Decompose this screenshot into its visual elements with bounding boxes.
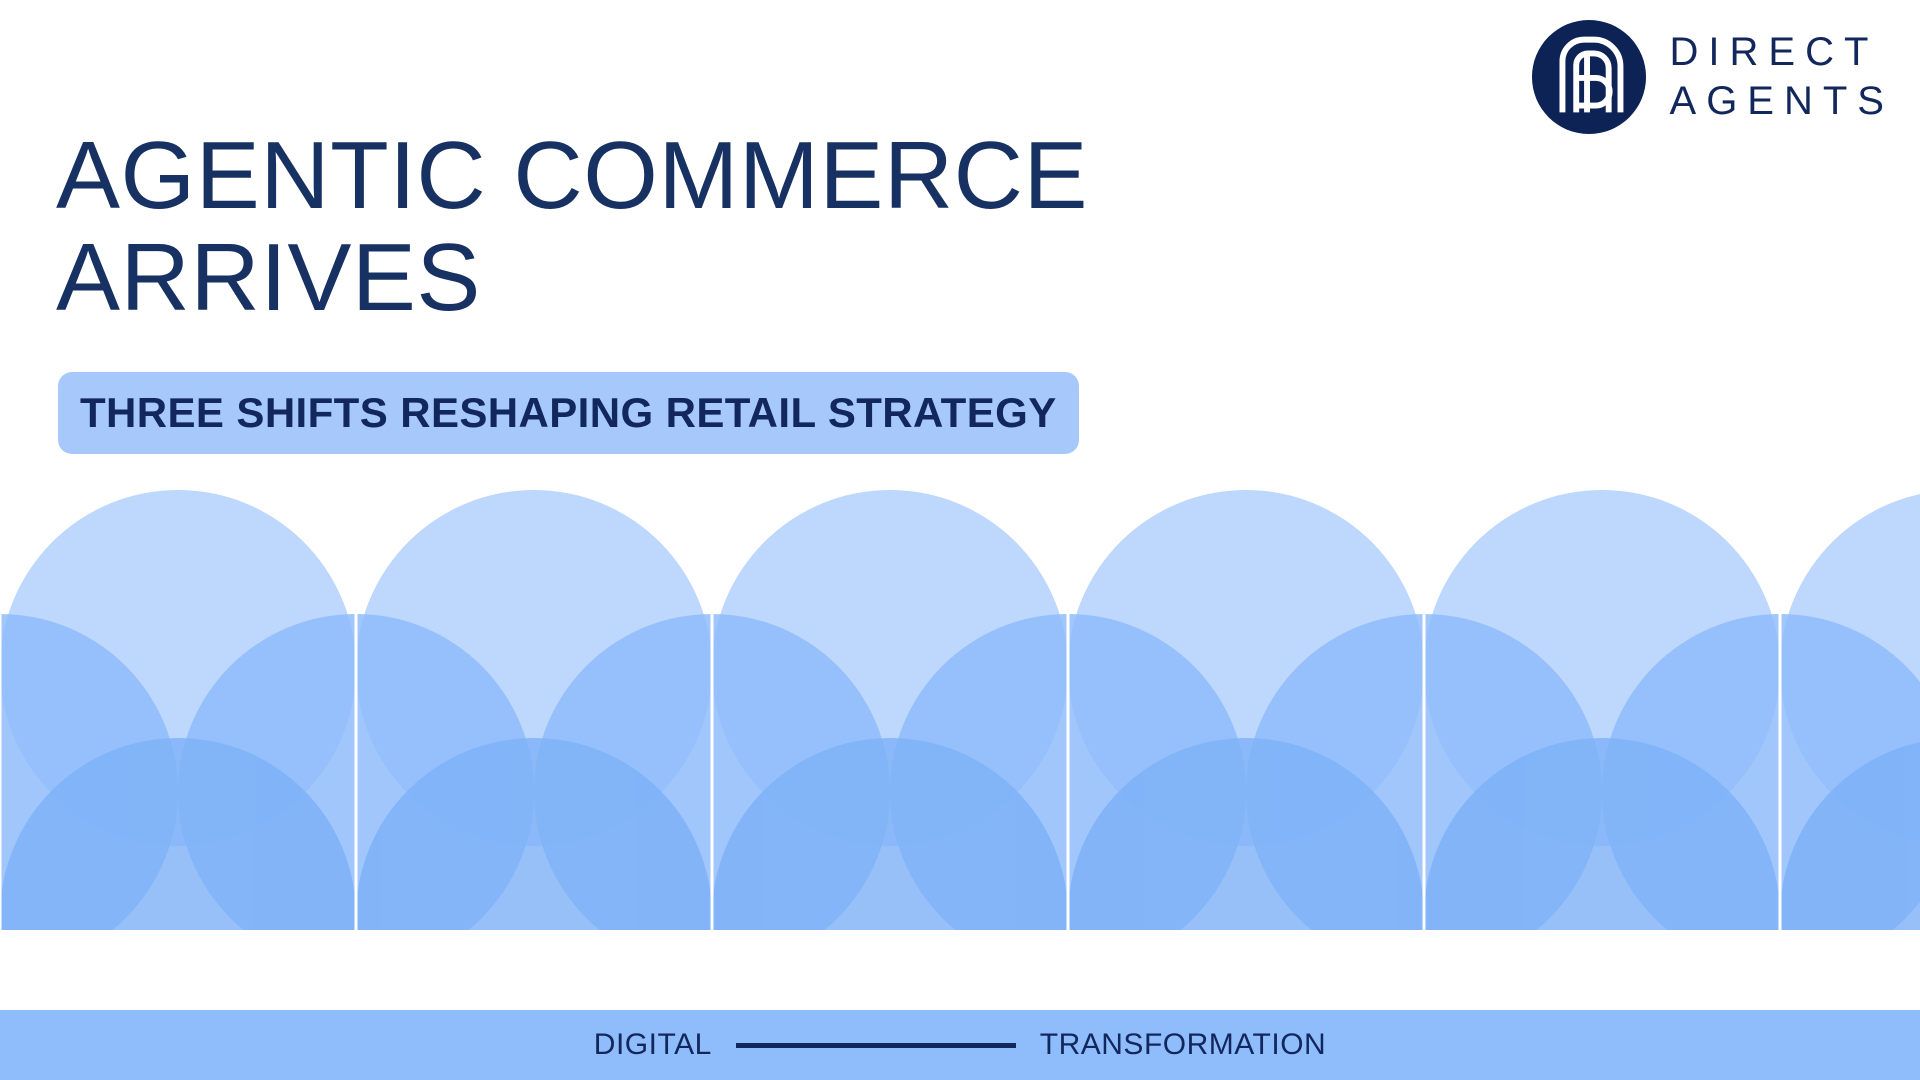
- logo-word-direct: DIRECT: [1670, 31, 1894, 74]
- headline-line-1: AGENTIC COMMERCE: [56, 128, 1456, 224]
- subtitle-text: THREE SHIFTS RESHAPING RETAIL STRATEGY: [80, 389, 1057, 437]
- direct-agents-logo-icon: [1530, 18, 1648, 136]
- decorative-pattern-band: [0, 480, 1920, 930]
- footer-divider-rule: [736, 1043, 1016, 1048]
- logo-word-agents: AGENTS: [1670, 80, 1894, 123]
- slide-canvas: DIRECT AGENTS AGENTIC COMMERCE ARRIVES T…: [0, 0, 1920, 1080]
- brand-wordmark: DIRECT AGENTS: [1670, 31, 1894, 123]
- overlapping-circles-graphic: [0, 480, 1920, 930]
- footer-word-transformation: TRANSFORMATION: [1040, 1028, 1326, 1062]
- footer-bar: DIGITAL TRANSFORMATION: [0, 1010, 1920, 1080]
- footer-word-digital: DIGITAL: [594, 1028, 712, 1062]
- brand-logo-lockup: DIRECT AGENTS: [1530, 18, 1894, 136]
- subtitle-badge: THREE SHIFTS RESHAPING RETAIL STRATEGY: [58, 372, 1079, 454]
- page-title: AGENTIC COMMERCE ARRIVES: [56, 128, 1456, 326]
- headline-line-2: ARRIVES: [56, 230, 1456, 326]
